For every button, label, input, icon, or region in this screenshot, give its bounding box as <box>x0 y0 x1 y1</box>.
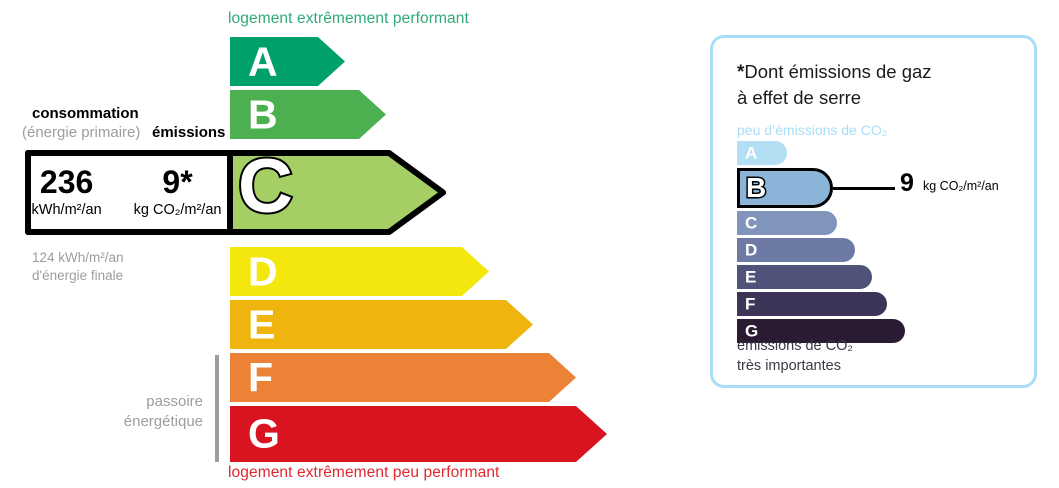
energy-performance-scale: logement extrêmement performant ABDEFG 2… <box>0 0 700 488</box>
ghg-bar-letter-g: G <box>745 323 758 340</box>
arrow-shape <box>230 300 533 349</box>
passoire-line1: passoire <box>0 392 203 412</box>
ghg-top-caption: peu d’émissions de CO₂ <box>737 122 887 138</box>
energy-bar-letter-a: A <box>248 41 278 82</box>
ghg-bar-e <box>737 265 872 289</box>
scale-bottom-caption: logement extrêmement peu performant <box>228 464 499 482</box>
ghg-bottom-caption: émissions de CO₂ très importantes <box>737 337 853 376</box>
ghg-title-line2: à effet de serre <box>737 87 861 108</box>
energy-bar-a: A <box>230 37 345 86</box>
label-consommation: consommation <box>32 105 139 122</box>
ghg-emissions-panel: *Dont émissions de gaz à effet de serre … <box>710 35 1037 388</box>
ghg-title-line1: Dont émissions de gaz <box>744 61 931 82</box>
label-energie-primaire: (énergie primaire) <box>22 124 140 141</box>
final-energy-line1: 124 kWh/m²/an <box>32 249 124 267</box>
arrow-shape <box>230 406 607 462</box>
energy-bar-letter-d: D <box>248 251 278 292</box>
consumption-value: 236 <box>40 166 93 200</box>
energy-bar-letter-e: E <box>248 304 275 345</box>
energy-bar-b: B <box>230 90 386 139</box>
ghg-bottom-line2: très importantes <box>737 357 853 377</box>
passoire-line2: énergétique <box>0 412 203 432</box>
label-passoire-energetique: passoire énergétique <box>0 392 203 433</box>
energy-bar-letter-b: B <box>248 94 278 135</box>
selected-class-letter: C <box>238 149 293 225</box>
ghg-bar-letter-a: A <box>745 145 757 162</box>
ghg-bar-letter-c: C <box>745 215 757 232</box>
ghg-bar-letter-e: E <box>745 269 756 286</box>
emission-unit: kg CO₂/m²/an <box>134 202 222 219</box>
selected-class-row: 236 kWh/m²/an 9* kg CO₂/m²/an <box>23 148 448 237</box>
passoire-bracket <box>215 355 219 462</box>
energy-bar-letter-g: G <box>248 414 280 455</box>
arrow-shape <box>230 353 576 402</box>
ghg-value: 9 <box>900 171 914 196</box>
scale-top-caption: logement extrêmement performant <box>228 10 469 28</box>
ghg-bar-letter-f: F <box>745 296 755 313</box>
dpe-diagram: logement extrêmement performant ABDEFG 2… <box>0 0 1059 488</box>
ghg-panel-title: *Dont émissions de gaz à effet de serre <box>737 60 997 110</box>
ghg-value-unit: kg CO₂/m²/an <box>923 179 999 193</box>
energy-bar-d: D <box>230 247 489 296</box>
energy-bar-e: E <box>230 300 533 349</box>
measurement-values: 236 kWh/m²/an 9* kg CO₂/m²/an <box>23 148 230 237</box>
label-emissions: émissions <box>152 124 225 141</box>
energy-bar-f: F <box>230 353 576 402</box>
ghg-bar-f <box>737 292 887 316</box>
ghg-leader-line <box>833 187 895 190</box>
emission-cell: 9* kg CO₂/m²/an <box>122 166 234 220</box>
emission-value: 9* <box>162 166 192 200</box>
consumption-unit: kWh/m²/an <box>32 202 102 219</box>
energy-bar-letter-f: F <box>248 357 273 398</box>
consumption-cell: 236 kWh/m²/an <box>20 166 114 220</box>
label-final-energy: 124 kWh/m²/an d'énergie finale <box>32 249 124 285</box>
ghg-bar-letter-b: B <box>746 174 766 202</box>
ghg-bar-letter-d: D <box>745 242 757 259</box>
energy-bar-g: G <box>230 406 607 462</box>
final-energy-line2: d'énergie finale <box>32 267 124 285</box>
